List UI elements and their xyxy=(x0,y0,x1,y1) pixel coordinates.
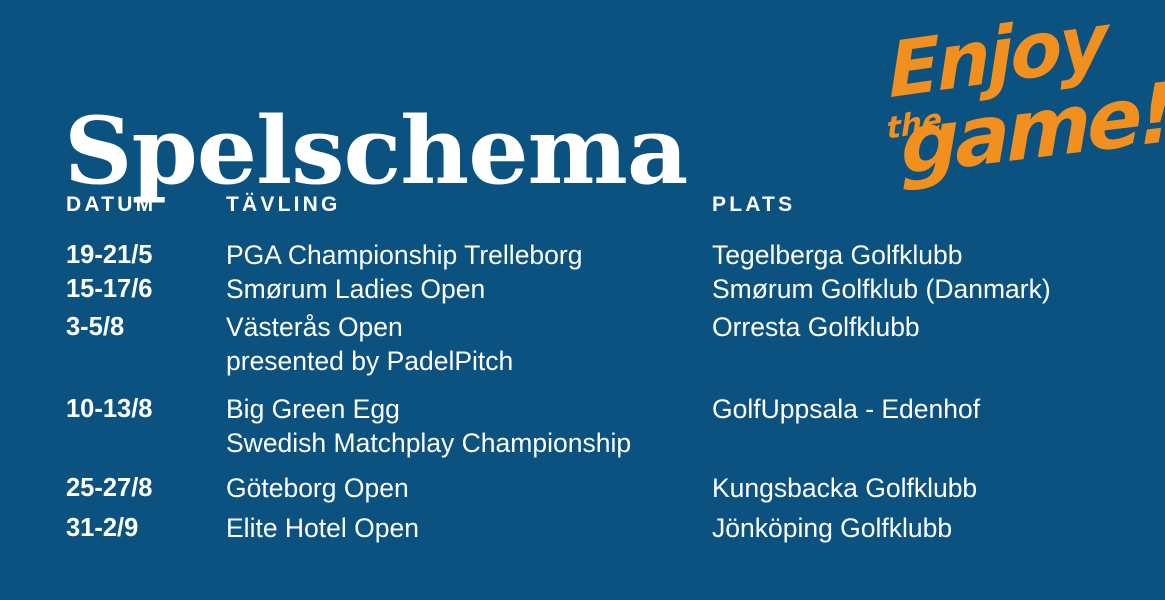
table-row-event: Västerås Open presented by PadelPitch xyxy=(226,310,706,378)
schedule-table: DATUM TÄVLING PLATS 19-21/5 PGA Champion… xyxy=(0,0,1165,600)
column-header-datum: DATUM xyxy=(66,194,226,215)
table-row-event: Smørum Ladies Open xyxy=(226,272,706,306)
table-row-date: 19-21/5 xyxy=(66,238,226,272)
table-row-event: Elite Hotel Open xyxy=(226,511,706,545)
table-row-place: Kungsbacka Golfklubb xyxy=(712,471,1152,505)
table-row-date: 25-27/8 xyxy=(66,471,226,505)
table-row-event: Big Green Egg Swedish Matchplay Champion… xyxy=(226,392,706,460)
table-row-place: Tegelberga Golfklubb xyxy=(712,238,1152,272)
table-row-place: Orresta Golfklubb xyxy=(712,310,1152,344)
table-row-date: 15-17/6 xyxy=(66,272,226,306)
column-header-plats: PLATS xyxy=(712,194,1152,215)
column-header-tavling: TÄVLING xyxy=(226,194,706,215)
table-row-place: Smørum Golfklub (Danmark) xyxy=(712,272,1152,306)
table-row-date: 31-2/9 xyxy=(66,511,226,545)
table-row-place: GolfUppsala - Edenhof xyxy=(712,392,1152,426)
table-row-event: Göteborg Open xyxy=(226,471,706,505)
table-row-event: PGA Championship Trelleborg xyxy=(226,238,706,272)
table-row-place: Jönköping Golfklubb xyxy=(712,511,1152,545)
spelschema-poster: Spelschema Enjoy the game! DATUM TÄVLING… xyxy=(0,0,1165,600)
table-row-date: 10-13/8 xyxy=(66,392,226,426)
table-row-date: 3-5/8 xyxy=(66,310,226,344)
